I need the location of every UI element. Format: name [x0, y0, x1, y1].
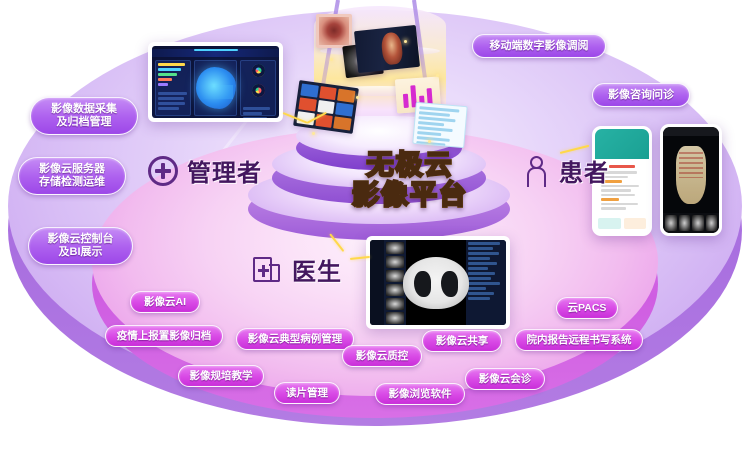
circle-plus-icon: [148, 156, 178, 186]
endoscopy-image-tile: [316, 14, 352, 48]
mobile-3d-imaging-phone: [660, 124, 722, 236]
bi-right-panel: [240, 60, 276, 116]
role-patient-label: 患者: [559, 153, 609, 188]
pill-case-management[interactable]: 影像云典型病例管理: [236, 328, 354, 350]
bi-dashboard-screenshot: [148, 42, 283, 122]
pill-cloud-consult[interactable]: 影像云会诊: [465, 368, 545, 390]
role-doctor[interactable]: 医生: [253, 252, 342, 287]
pill-training[interactable]: 影像规培教学: [178, 365, 264, 387]
pill-cloud-pacs[interactable]: 云PACS: [556, 297, 618, 319]
bi-map-panel: [194, 60, 237, 116]
platform-title-line1: 无极云: [330, 150, 490, 180]
skeleton-3d-render: [676, 146, 706, 204]
pill-reading-mgmt[interactable]: 读片管理: [274, 382, 340, 404]
bi-body: [152, 57, 279, 118]
report-table-tile: [412, 102, 467, 148]
ct-viewer-screen: [370, 240, 506, 325]
bi-left-panel: [155, 60, 191, 116]
ct-viewer-screenshot: [366, 236, 510, 329]
pill-cloud-server[interactable]: 影像云服务器 存储检测运维: [18, 157, 126, 195]
role-doctor-label: 医生: [292, 252, 342, 287]
pill-cloud-sharing[interactable]: 影像云共享: [422, 330, 502, 352]
sparkle: [428, 140, 431, 143]
pill-epidemic-archive[interactable]: 疫情上报置影像归档: [105, 325, 223, 347]
ct-toolbar: [370, 240, 384, 325]
role-admin[interactable]: 管理者: [148, 153, 262, 188]
chest-ct-slice: [403, 257, 469, 309]
sparkle: [404, 40, 407, 43]
bi-dashboard-screen: [152, 46, 279, 118]
platform-title: 无极云 影像平台: [330, 150, 490, 210]
pill-data-collection[interactable]: 影像数据采集 及归档管理: [30, 97, 138, 135]
doctor-card-plus-icon: [253, 255, 283, 285]
ct-report-panel: [466, 240, 506, 325]
bi-header: [152, 49, 279, 57]
patient-action-buttons[interactable]: [598, 218, 646, 229]
pill-imaging-ai[interactable]: 影像云AI: [130, 291, 200, 313]
role-patient[interactable]: 患者: [520, 153, 609, 188]
mobile-3d-viewport: [663, 136, 719, 213]
sparkle: [312, 132, 315, 135]
app-grid-tile: [293, 80, 359, 134]
pill-viewer-software[interactable]: 影像浏览软件: [375, 383, 465, 405]
sparkle: [356, 96, 359, 99]
platform-title-line2: 影像平台: [330, 180, 490, 210]
ct-image-viewport: [406, 240, 466, 325]
infographic-canvas: 管理者 患者 医生 无极云 影像平台 影像数据采集 及归档管理 影像云服务器 存…: [0, 0, 750, 450]
lung-right: [441, 271, 458, 297]
pill-console-bi[interactable]: 影像云控制台 及BI展示: [28, 227, 133, 265]
pill-mobile-imaging[interactable]: 移动端数字影像调阅: [472, 34, 606, 58]
bi-trend: [198, 85, 233, 99]
pill-quality-control[interactable]: 影像云质控: [342, 345, 422, 367]
pill-consultation[interactable]: 影像咨询问诊: [592, 83, 690, 107]
sparkle: [436, 74, 439, 77]
mobile-viewer-toolbar: [663, 127, 719, 136]
person-icon: [520, 156, 550, 186]
mobile-slice-strip: [663, 213, 719, 233]
sparkle: [330, 58, 333, 61]
role-admin-label: 管理者: [187, 153, 262, 188]
lung-left: [414, 271, 431, 297]
pill-remote-report[interactable]: 院内报告远程书写系统: [515, 329, 643, 351]
ct-3d-image-tile: [354, 25, 420, 73]
mobile-3d-screen: [663, 127, 719, 233]
